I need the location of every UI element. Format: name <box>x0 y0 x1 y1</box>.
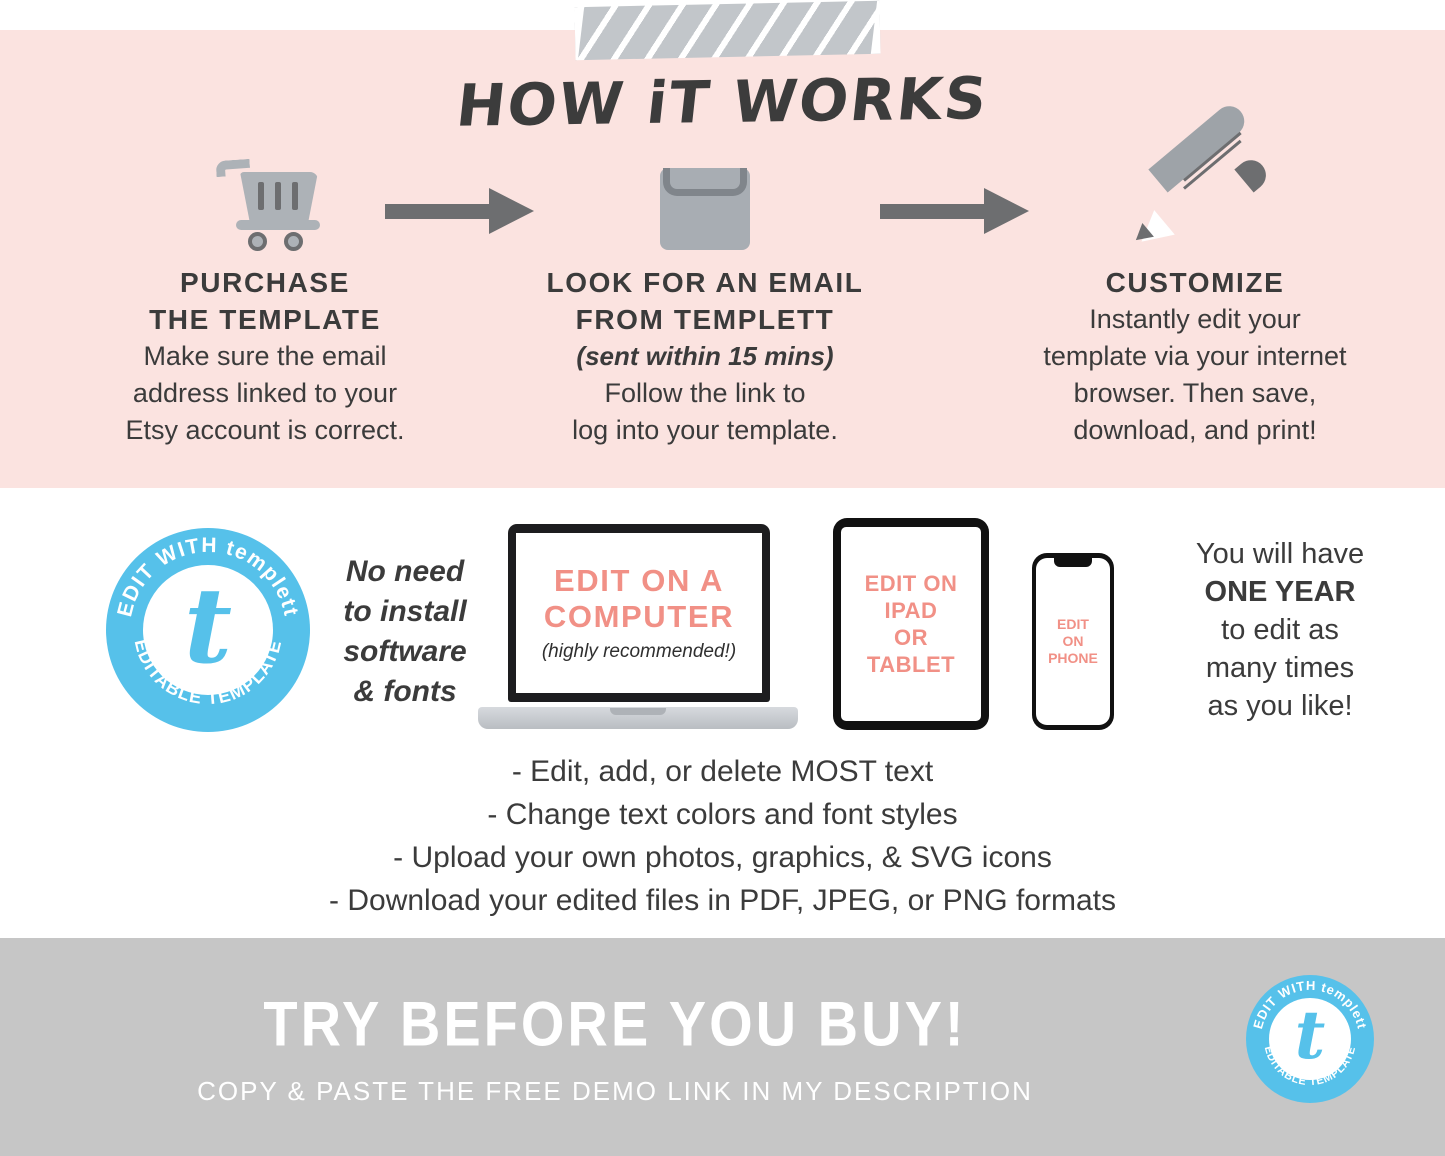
badge-small-bottom-text: EDITABLE TEMPLATE <box>1262 1045 1359 1088</box>
templett-badge-ring-text: EDIT WITH templett EDITABLE TEMPLATE <box>106 528 310 732</box>
step-1-body-line3: Etsy account is correct. <box>80 412 450 449</box>
step-3-body-line4: download, and print! <box>1000 412 1390 449</box>
tablet-title-line-3: OR <box>865 624 958 651</box>
step-2-icon-wrap <box>520 140 890 250</box>
svg-text:EDIT WITH templett: EDIT WITH templett <box>113 534 303 619</box>
steps-row: PURCHASE THE TEMPLATE Make sure the emai… <box>0 140 1445 470</box>
tablet-title-line-1: EDIT ON <box>865 570 958 597</box>
templett-badge-small-ring-text: EDIT WITH templett EDITABLE TEMPLATE <box>1246 975 1374 1103</box>
one-year-text: You will have ONE YEAR to edit as many t… <box>1125 535 1435 725</box>
laptop-screen: EDIT ON A COMPUTER (highly recommended!) <box>516 533 762 693</box>
cart-wheel <box>284 232 303 251</box>
step-purchase: PURCHASE THE TEMPLATE Make sure the emai… <box>80 140 450 449</box>
step-3-heading-line1: CUSTOMIZE <box>1000 264 1390 301</box>
cart-base <box>236 220 320 230</box>
laptop-lid: EDIT ON A COMPUTER (highly recommended!) <box>508 524 770 702</box>
no-need-line-2: to install <box>330 592 480 632</box>
phone-title-line-3: PHONE <box>1048 650 1098 667</box>
laptop-title-line-1: EDIT ON A <box>544 563 734 599</box>
step-3-body-line2: template via your internet <box>1000 338 1390 375</box>
step-2-body-line2: Follow the link to <box>520 375 890 412</box>
list-item: - Download your edited files in PDF, JPE… <box>0 879 1445 922</box>
phone-notch <box>1054 558 1092 567</box>
tablet-screen: EDIT ON IPAD OR TABLET <box>841 527 981 721</box>
laptop-device: EDIT ON A COMPUTER (highly recommended!) <box>478 524 798 729</box>
shopping-cart-icon <box>210 150 320 250</box>
phone-device: EDIT ON PHONE <box>1032 553 1114 730</box>
cart-bar <box>275 182 281 210</box>
pencil-icon <box>1132 146 1258 250</box>
step-1-body-line2: address linked to your <box>80 375 450 412</box>
step-3-body-line1: Instantly edit your <box>1000 301 1390 338</box>
pencil-eraser <box>1234 154 1272 192</box>
envelope-flap <box>660 168 750 220</box>
badge-top-text: EDIT WITH templett <box>113 534 303 619</box>
badge-bottom-text: EDITABLE TEMPLATE <box>131 637 286 708</box>
step-1-icon-wrap <box>80 140 450 250</box>
one-year-line-5: as you like! <box>1125 687 1435 725</box>
step-2-body-line3: log into your template. <box>520 412 890 449</box>
tablet-device: EDIT ON IPAD OR TABLET <box>833 518 989 730</box>
list-item: - Edit, add, or delete MOST text <box>0 750 1445 793</box>
one-year-line-1: You will have <box>1125 535 1435 573</box>
svg-text:EDITABLE TEMPLATE: EDITABLE TEMPLATE <box>131 637 286 708</box>
step-customize: CUSTOMIZE Instantly edit your template v… <box>1000 140 1390 449</box>
step-1-heading-line2: THE TEMPLATE <box>80 301 450 338</box>
feature-bullet-list: - Edit, add, or delete MOST text - Chang… <box>0 750 1445 922</box>
cart-wheel <box>248 232 267 251</box>
list-item: - Upload your own photos, graphics, & SV… <box>0 836 1445 879</box>
step-2-heading-line1: LOOK FOR AN EMAIL <box>520 264 890 301</box>
laptop-trackpad-notch <box>610 708 666 715</box>
cart-bar <box>258 182 264 210</box>
no-need-line-4: & fonts <box>330 672 480 712</box>
laptop-title-line-2: COMPUTER <box>544 599 734 635</box>
try-before-you-buy-banner: TRY BEFORE YOU BUY! COPY & PASTE THE FRE… <box>0 938 1445 1156</box>
step-2-heading-line2: FROM TEMPLETT <box>520 301 890 338</box>
no-need-line-1: No need <box>330 552 480 592</box>
banner-title: TRY BEFORE YOU BUY! <box>0 987 1230 1060</box>
laptop-screen-title: EDIT ON A COMPUTER <box>544 563 734 635</box>
svg-text:EDITABLE TEMPLATE: EDITABLE TEMPLATE <box>1262 1045 1359 1088</box>
phone-title-line-1: EDIT <box>1048 616 1098 633</box>
phone-screen: EDIT ON PHONE <box>1036 558 1110 725</box>
templett-badge-main: EDIT WITH templett EDITABLE TEMPLATE t <box>106 528 310 732</box>
step-1-body-line1: Make sure the email <box>80 338 450 375</box>
one-year-strong: ONE YEAR <box>1125 573 1435 611</box>
envelope-icon <box>660 168 750 250</box>
washi-tape-icon <box>574 1 880 60</box>
infographic-page: HOW iT WORKS PURCHASE <box>0 0 1445 1156</box>
no-need-to-install-text: No need to install software & fonts <box>330 552 480 712</box>
templett-badge-small: EDIT WITH templett EDITABLE TEMPLATE t <box>1246 975 1374 1103</box>
laptop-screen-subtitle: (highly recommended!) <box>542 641 736 663</box>
cart-bar <box>292 182 298 210</box>
step-2-italic-line: (sent within 15 mins) <box>520 338 890 375</box>
svg-text:EDIT WITH templett: EDIT WITH templett <box>1250 978 1370 1031</box>
list-item: - Change text colors and font styles <box>0 793 1445 836</box>
badge-small-top-text: EDIT WITH templett <box>1250 978 1370 1031</box>
step-3-icon-wrap <box>1000 140 1390 250</box>
step-look-for-email: LOOK FOR AN EMAIL FROM TEMPLETT (sent wi… <box>520 140 890 449</box>
step-1-heading-line1: PURCHASE <box>80 264 450 301</box>
tablet-title-line-4: TABLET <box>865 651 958 678</box>
one-year-line-3: to edit as <box>1125 611 1435 649</box>
phone-screen-title: EDIT ON PHONE <box>1048 616 1098 667</box>
tablet-title-line-2: IPAD <box>865 597 958 624</box>
phone-title-line-2: ON <box>1048 633 1098 650</box>
tablet-screen-title: EDIT ON IPAD OR TABLET <box>865 570 958 678</box>
one-year-line-4: many times <box>1125 649 1435 687</box>
banner-subtitle: COPY & PASTE THE FREE DEMO LINK IN MY DE… <box>0 1076 1230 1107</box>
step-3-body-line3: browser. Then save, <box>1000 375 1390 412</box>
no-need-line-3: software <box>330 632 480 672</box>
